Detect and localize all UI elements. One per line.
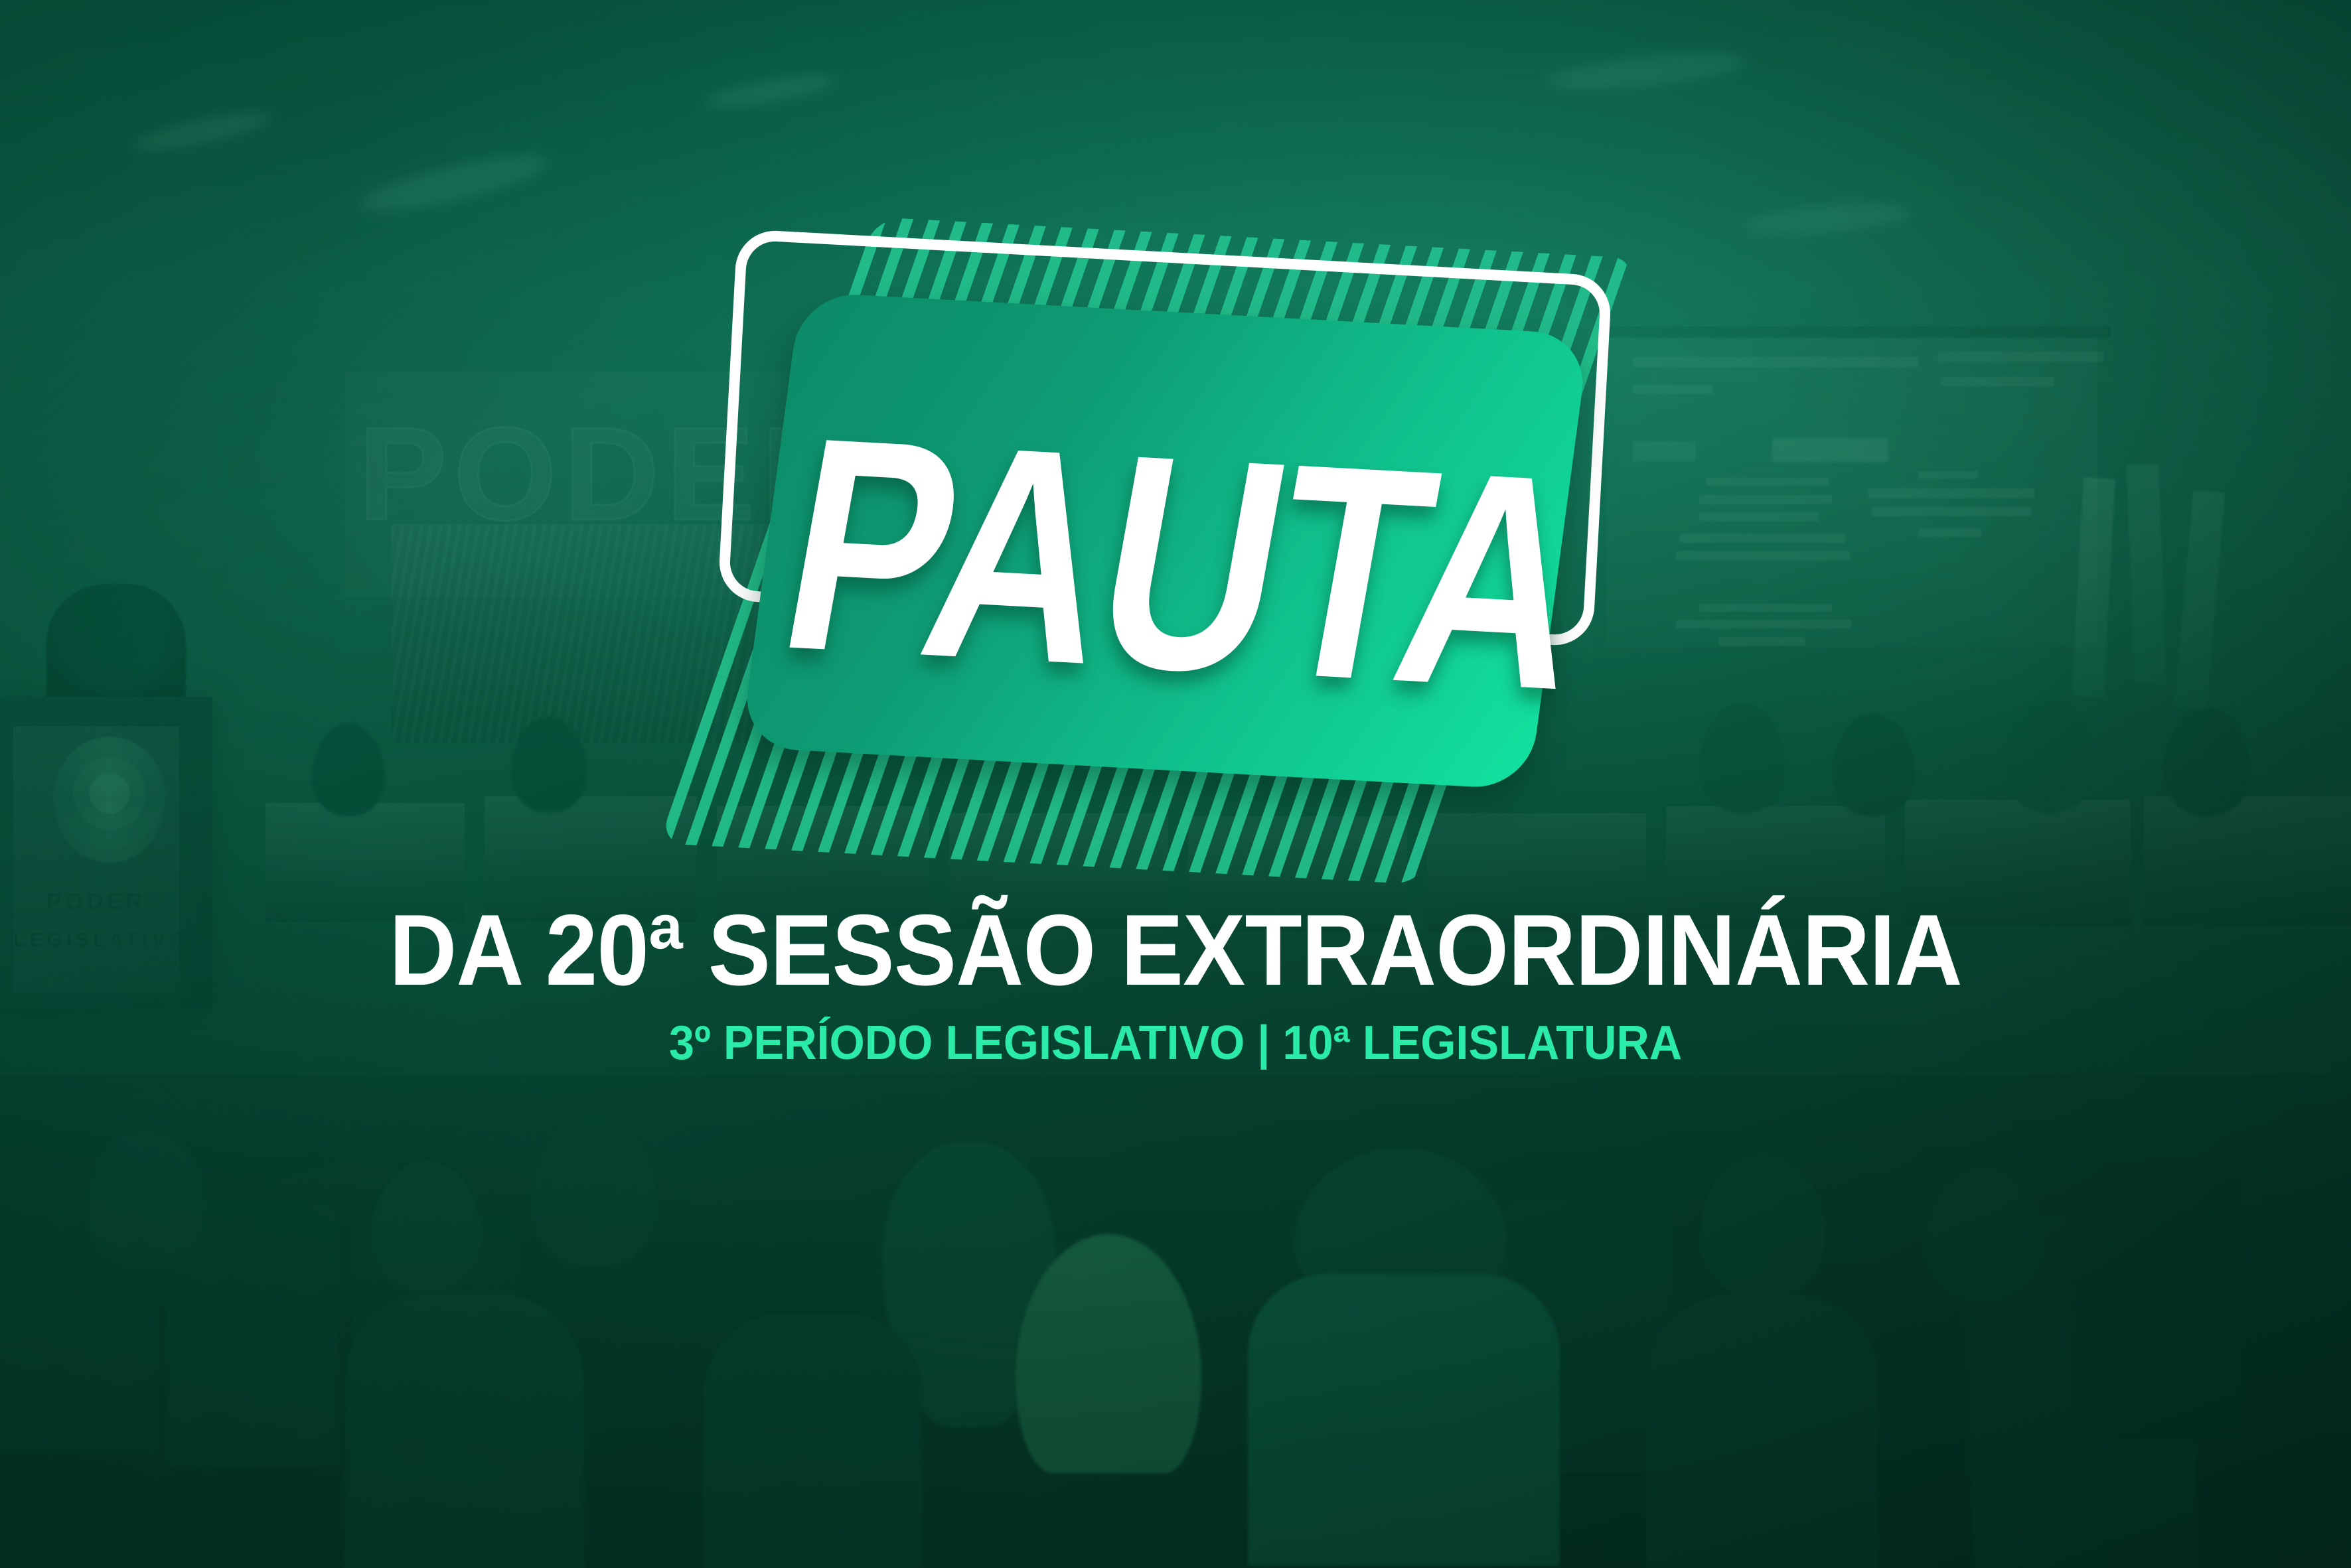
logo-badge-shape	[740, 292, 1590, 790]
poster-canvas: PODER	[0, 0, 2351, 1568]
pauta-logo: PAUTA	[690, 219, 1673, 889]
session-title: DA 20ª SESSÃO EXTRAORDINÁRIA	[82, 899, 2269, 1002]
headline-block: DA 20ª SESSÃO EXTRAORDINÁRIA 3º PERÍODO …	[0, 899, 2351, 1067]
session-subtitle: 3º PERÍODO LEGISLATIVO | 10ª LEGISLATURA	[59, 1019, 2293, 1067]
